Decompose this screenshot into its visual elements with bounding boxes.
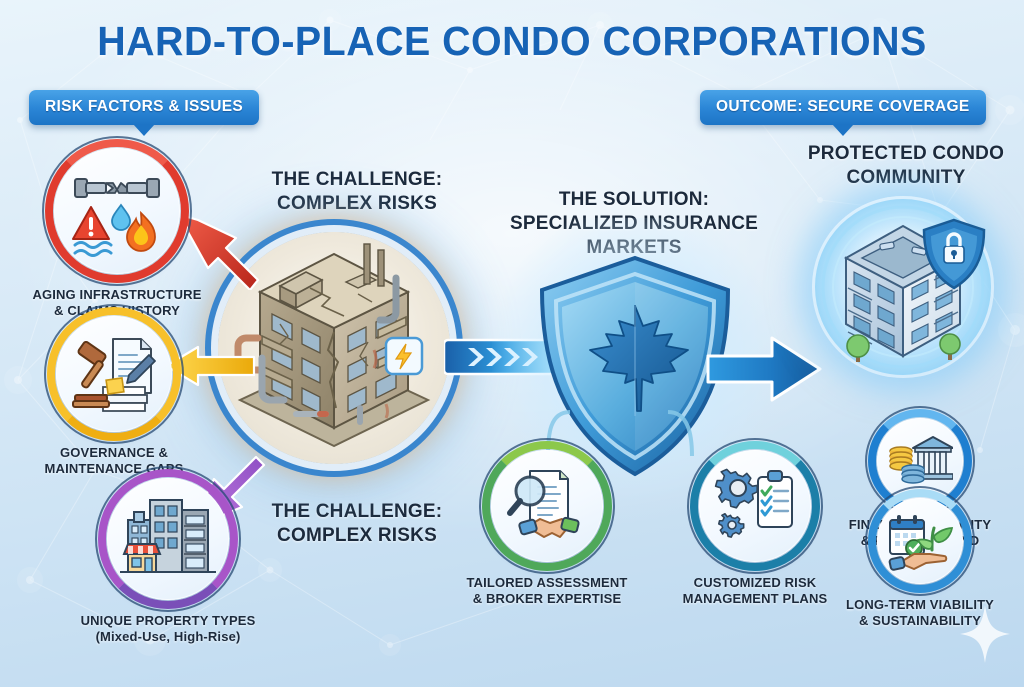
risk-node-governance-gaps[interactable]: GOVERNANCE & MAINTENANCE GAPS bbox=[24, 316, 204, 477]
protected-condo-building-icon bbox=[812, 196, 994, 378]
solution-node-tailored-assessment[interactable]: TAILORED ASSESSMENT & BROKER EXPERTISE bbox=[452, 450, 642, 607]
solution-label-customized: CUSTOMIZED RISK MANAGEMENT PLANS bbox=[660, 575, 850, 607]
risk-node-unique-property-types[interactable]: UNIQUE PROPERTY TYPES (Mixed-Use, High-R… bbox=[78, 478, 258, 645]
solution-ring-tailored bbox=[491, 450, 603, 562]
heading-line-2: COMMUNITY bbox=[786, 166, 1024, 190]
label-line-2: MANAGEMENT PLANS bbox=[660, 591, 850, 607]
risk-ring-governance bbox=[56, 316, 172, 432]
solution-label-tailored: TAILORED ASSESSMENT & BROKER EXPERTISE bbox=[452, 575, 642, 607]
four-point-sparkle-icon bbox=[958, 603, 1012, 665]
heading-line-1: THE CHALLENGE: bbox=[232, 500, 482, 524]
label-line-1: CUSTOMIZED RISK bbox=[660, 575, 850, 591]
heading-challenge-top: THE CHALLENGE: COMPLEX RISKS bbox=[232, 168, 482, 216]
risk-label-property: UNIQUE PROPERTY TYPES (Mixed-Use, High-R… bbox=[78, 613, 258, 645]
label-line-1: TAILORED ASSESSMENT bbox=[452, 575, 642, 591]
lightning-bolt-icon bbox=[386, 338, 422, 374]
label-line-1: GOVERNANCE & bbox=[24, 445, 204, 461]
badge-risk-factors[interactable]: RISK FACTORS & ISSUES bbox=[29, 90, 259, 125]
solution-node-customized-risk-plans[interactable]: CUSTOMIZED RISK MANAGEMENT PLANS bbox=[660, 450, 850, 607]
heading-protected-community: PROTECTED CONDO COMMUNITY bbox=[786, 142, 1024, 190]
coins-bank-icon bbox=[887, 431, 953, 491]
calendar-sprout-hand-icon bbox=[886, 510, 954, 572]
page-title: HARD-TO-PLACE CONDO CORPORATIONS bbox=[20, 18, 1003, 64]
heading-line-1: THE SOLUTION: bbox=[494, 188, 774, 212]
risk-ring-property bbox=[107, 478, 229, 600]
arrow-right-icon bbox=[706, 330, 824, 408]
heading-challenge-bottom: THE CHALLENGE: COMPLEX RISKS bbox=[232, 500, 482, 548]
magnifier-document-handshake-icon bbox=[504, 463, 590, 549]
badge-tail bbox=[133, 124, 155, 136]
outcome-ring-longterm bbox=[877, 498, 963, 584]
label-line-2: (Mixed-Use, High-Rise) bbox=[78, 629, 258, 645]
mixed-use-buildings-icon bbox=[120, 492, 216, 586]
heading-line-1: THE CHALLENGE: bbox=[232, 168, 482, 192]
gears-checklist-icon bbox=[712, 463, 798, 549]
infographic-canvas: HARD-TO-PLACE CONDO CORPORATIONS RISK FA… bbox=[0, 0, 1024, 687]
badge-outcome[interactable]: OUTCOME: SECURE COVERAGE bbox=[700, 90, 986, 125]
heading-line-1: PROTECTED CONDO bbox=[786, 142, 1024, 166]
badge-outcome-label: OUTCOME: SECURE COVERAGE bbox=[716, 98, 970, 115]
gavel-documents-icon bbox=[69, 329, 159, 419]
label-line-1: AGING INFRASTRUCTURE bbox=[32, 287, 202, 303]
solution-ring-customized bbox=[699, 450, 811, 562]
badge-tail bbox=[832, 124, 854, 136]
protected-condo-community-circle[interactable] bbox=[812, 196, 994, 378]
risk-node-aging-infrastructure[interactable]: AGING INFRASTRUCTURE & CLAIMS HISTORY bbox=[32, 148, 202, 319]
risk-ring-aging bbox=[54, 148, 180, 274]
label-line-1: UNIQUE PROPERTY TYPES bbox=[78, 613, 258, 629]
label-line-2: & BROKER EXPERTISE bbox=[452, 591, 642, 607]
badge-risk-label: RISK FACTORS & ISSUES bbox=[45, 98, 243, 115]
heading-line-2: COMPLEX RISKS bbox=[232, 192, 482, 216]
burst-pipe-flood-fire-icon bbox=[69, 163, 165, 259]
heading-line-2: COMPLEX RISKS bbox=[232, 524, 482, 548]
